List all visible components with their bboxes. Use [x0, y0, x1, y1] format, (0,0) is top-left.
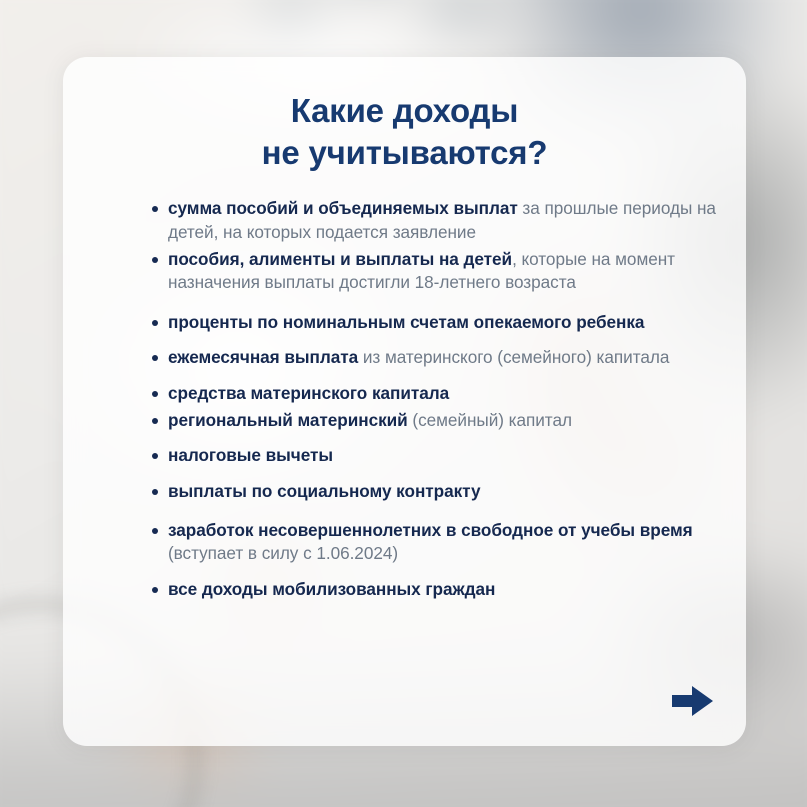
arrow-right-icon[interactable]	[672, 684, 714, 718]
list-item-highlight: сумма пособий и объединяемых выплат	[168, 198, 518, 218]
slide-root: Какие доходы не учитываются? сумма пособ…	[0, 0, 807, 807]
list-item: налоговые вычеты	[168, 444, 716, 467]
list-item-detail: из материнского (семейного) капитала	[358, 347, 669, 367]
list-item: ежемесячная выплата из материнского (сем…	[168, 346, 716, 369]
list-item-highlight: выплаты по социальному контракту	[168, 481, 480, 501]
page-title: Какие доходы не учитываются?	[63, 90, 746, 173]
list-item: пособия, алименты и выплаты на детей, ко…	[168, 248, 716, 295]
list-item-highlight: проценты по номинальным счетам опекаемог…	[168, 312, 644, 332]
excluded-income-list: сумма пособий и объединяемых выплат за п…	[63, 197, 746, 601]
list-item-detail: (вступает в силу с 1.06.2024)	[168, 543, 398, 563]
list-item: сумма пособий и объединяемых выплат за п…	[168, 197, 716, 244]
list-item: все доходы мобилизованных граждан	[168, 578, 716, 601]
list-item: средства материнского капитала	[168, 382, 716, 405]
list-item-highlight: пособия, алименты и выплаты на детей	[168, 249, 512, 269]
list-item-highlight: ежемесячная выплата	[168, 347, 358, 367]
content-card: Какие доходы не учитываются? сумма пособ…	[63, 57, 746, 746]
page-title-line-2: не учитываются?	[63, 132, 746, 174]
list-item-highlight: средства материнского капитала	[168, 383, 449, 403]
list-item-detail: (семейный) капитал	[408, 410, 572, 430]
list-item: заработок несовершеннолетних в свободное…	[168, 519, 716, 566]
list-item: выплаты по социальному контракту	[168, 480, 716, 503]
list-item: проценты по номинальным счетам опекаемог…	[168, 311, 716, 334]
list-item: региональный материнский (семейный) капи…	[168, 409, 716, 432]
list-item-highlight: налоговые вычеты	[168, 445, 333, 465]
list-item-highlight: все доходы мобилизованных граждан	[168, 579, 495, 599]
page-title-line-1: Какие доходы	[291, 92, 519, 129]
list-item-highlight: заработок несовершеннолетних в свободное…	[168, 520, 693, 540]
list-item-highlight: региональный материнский	[168, 410, 408, 430]
